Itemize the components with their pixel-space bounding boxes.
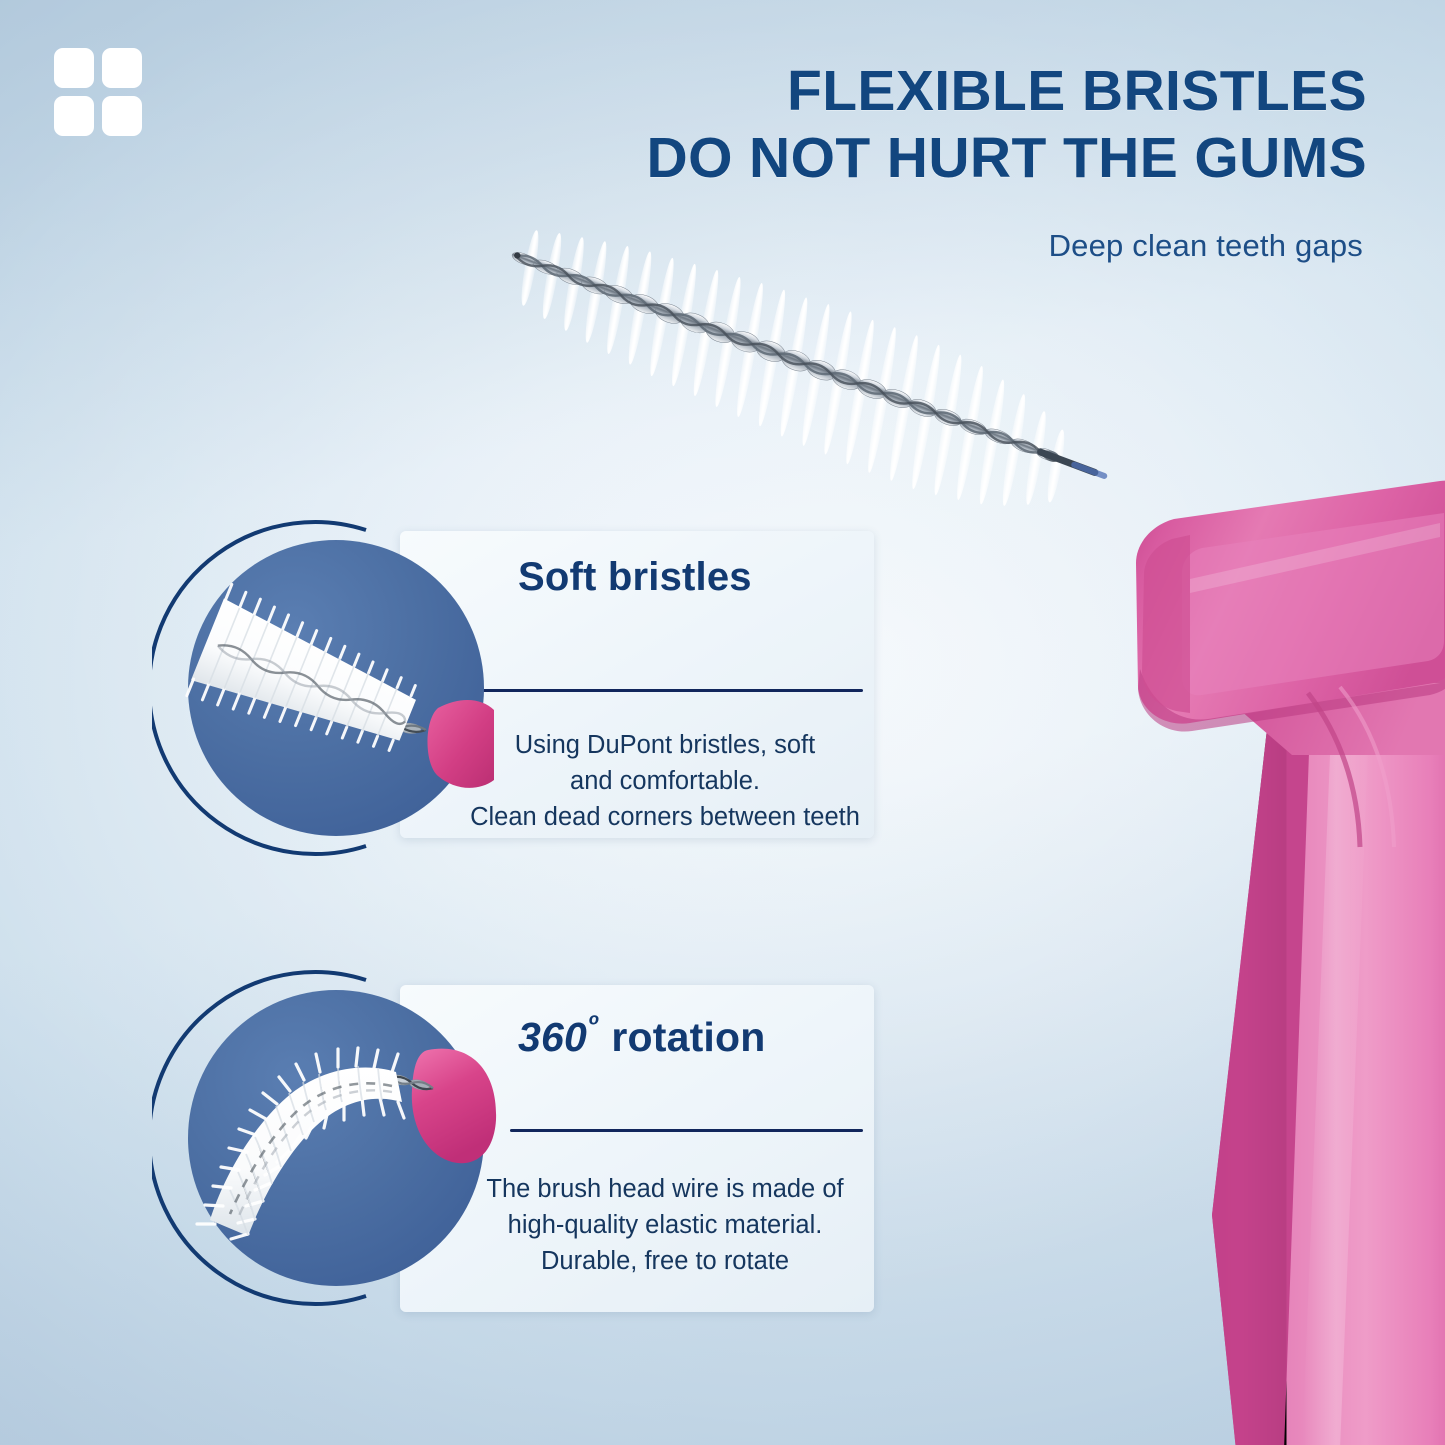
- feature-title: 360º rotation: [518, 1009, 860, 1061]
- logo-square-bottom-left: [54, 96, 94, 136]
- feature-title: Soft bristles: [518, 555, 860, 600]
- callout-360-rotation: [152, 962, 504, 1314]
- feature-body-line: Using DuPont bristles, soft: [470, 727, 860, 763]
- feature-body-line: and comfortable.: [470, 763, 860, 799]
- feature-body-line: Durable, free to rotate: [470, 1243, 860, 1279]
- feature-body-line: high-quality elastic material.: [470, 1207, 860, 1243]
- subheadline: Deep clean teeth gaps: [463, 228, 1363, 264]
- degree-symbol-icon: º: [587, 1009, 600, 1039]
- logo-square-bottom-right: [102, 96, 142, 136]
- feature-title-number: 360: [518, 1014, 587, 1060]
- feature-divider: [482, 689, 863, 692]
- logo-square-top-right: [102, 48, 142, 88]
- headline: FLEXIBLE BRISTLES DO NOT HURT THE GUMS: [467, 58, 1367, 191]
- four-squares-grid-icon: [54, 48, 142, 136]
- callout-soft-bristles: [152, 512, 504, 864]
- feature-divider: [510, 1129, 863, 1132]
- feature-body-line: The brush head wire is made of: [470, 1171, 860, 1207]
- headline-line-1: FLEXIBLE BRISTLES: [467, 58, 1367, 125]
- bent-interdental-brush-icon: [152, 962, 504, 1314]
- feature-body: The brush head wire is made of high-qual…: [470, 1171, 860, 1280]
- feature-body: Using DuPont bristles, soft and comforta…: [470, 727, 860, 836]
- headline-line-2: DO NOT HURT THE GUMS: [467, 125, 1367, 192]
- logo-square-top-left: [54, 48, 94, 88]
- product-infographic: FLEXIBLE BRISTLES DO NOT HURT THE GUMS D…: [0, 0, 1445, 1445]
- feature-body-line: Clean dead corners between teeth: [470, 799, 860, 835]
- straight-interdental-brush-icon: [152, 512, 504, 864]
- feature-title-word: rotation: [611, 1014, 765, 1060]
